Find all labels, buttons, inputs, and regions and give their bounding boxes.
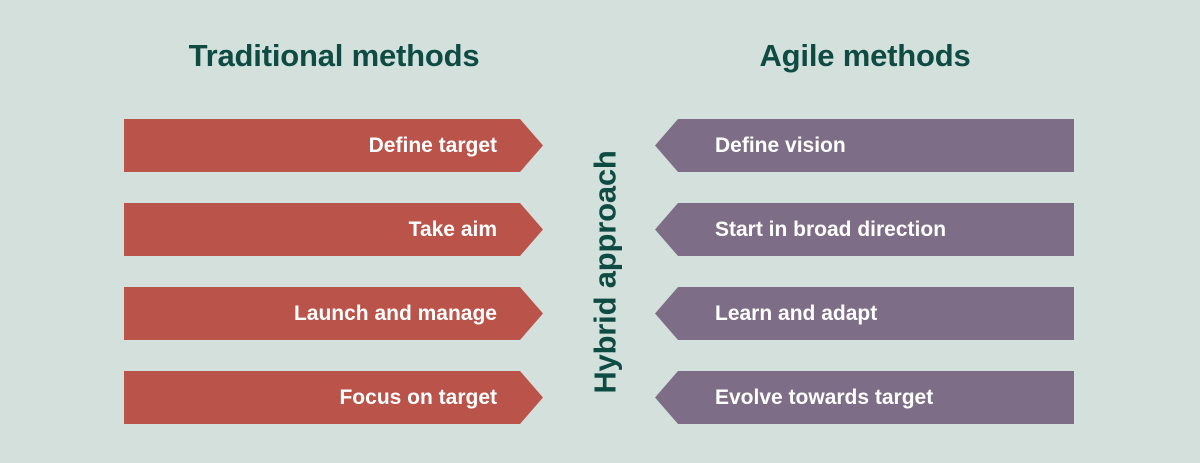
arrow-label: Learn and adapt	[715, 303, 877, 324]
arrow-agile-1: Define vision	[655, 119, 1074, 172]
arrow-label: Evolve towards target	[715, 387, 933, 408]
hybrid-approach-label: Hybrid approach	[590, 150, 621, 393]
arrow-traditional-3: Launch and manage	[124, 287, 543, 340]
column-title-agile: Agile methods	[655, 40, 1075, 71]
diagram-canvas: Traditional methods Agile methods Hybrid…	[0, 0, 1200, 463]
arrow-label: Focus on target	[339, 387, 497, 408]
arrow-agile-4: Evolve towards target	[655, 371, 1074, 424]
arrow-label: Launch and manage	[294, 303, 497, 324]
arrow-agile-3: Learn and adapt	[655, 287, 1074, 340]
arrow-traditional-2: Take aim	[124, 203, 543, 256]
column-title-traditional: Traditional methods	[124, 40, 544, 71]
arrow-traditional-4: Focus on target	[124, 371, 543, 424]
arrow-label: Define target	[369, 135, 497, 156]
arrow-label: Start in broad direction	[715, 219, 946, 240]
arrow-label: Define vision	[715, 135, 846, 156]
arrow-agile-2: Start in broad direction	[655, 203, 1074, 256]
arrow-traditional-1: Define target	[124, 119, 543, 172]
arrow-label: Take aim	[409, 219, 497, 240]
